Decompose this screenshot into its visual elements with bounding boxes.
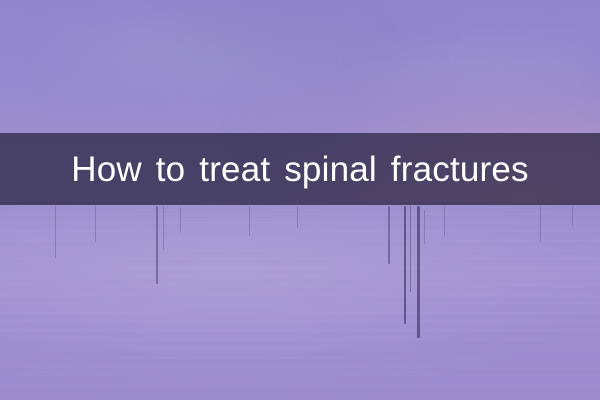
- pole-3: [156, 206, 158, 284]
- pole-15: [572, 206, 573, 226]
- pole-4: [163, 206, 164, 250]
- pole-11: [417, 206, 420, 338]
- pole-7: [297, 206, 298, 228]
- pole-9: [404, 206, 406, 324]
- pole-8: [388, 206, 390, 264]
- pole-6: [249, 206, 250, 236]
- pole-12: [424, 210, 425, 244]
- image-canvas: How to treat spinal fractures: [0, 0, 600, 400]
- caption-banner: How to treat spinal fractures: [0, 133, 600, 205]
- pole-13: [444, 206, 445, 236]
- pole-10: [410, 206, 411, 292]
- pole-14: [540, 206, 541, 242]
- pole-2: [95, 206, 96, 242]
- page-title: How to treat spinal fractures: [71, 152, 529, 187]
- pole-1: [55, 206, 56, 258]
- pole-5: [180, 207, 181, 233]
- water-sheen: [0, 204, 600, 400]
